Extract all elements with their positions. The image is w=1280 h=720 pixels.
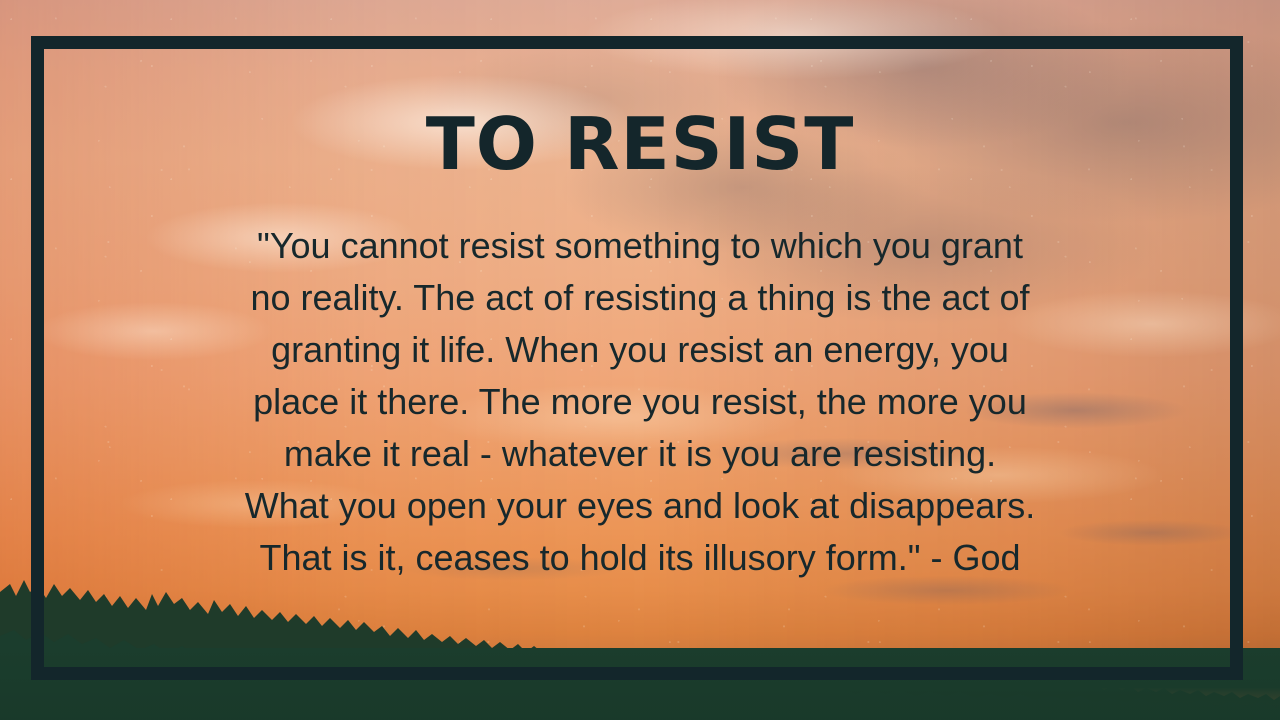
quote-content: TO RESIST "You cannot resist something t…: [0, 0, 1280, 584]
quote-text: "You cannot resist something to which yo…: [225, 220, 1055, 584]
quote-slide: TO RESIST "You cannot resist something t…: [0, 0, 1280, 720]
forest-band: [0, 648, 1280, 720]
page-title: TO RESIST: [0, 0, 1280, 180]
